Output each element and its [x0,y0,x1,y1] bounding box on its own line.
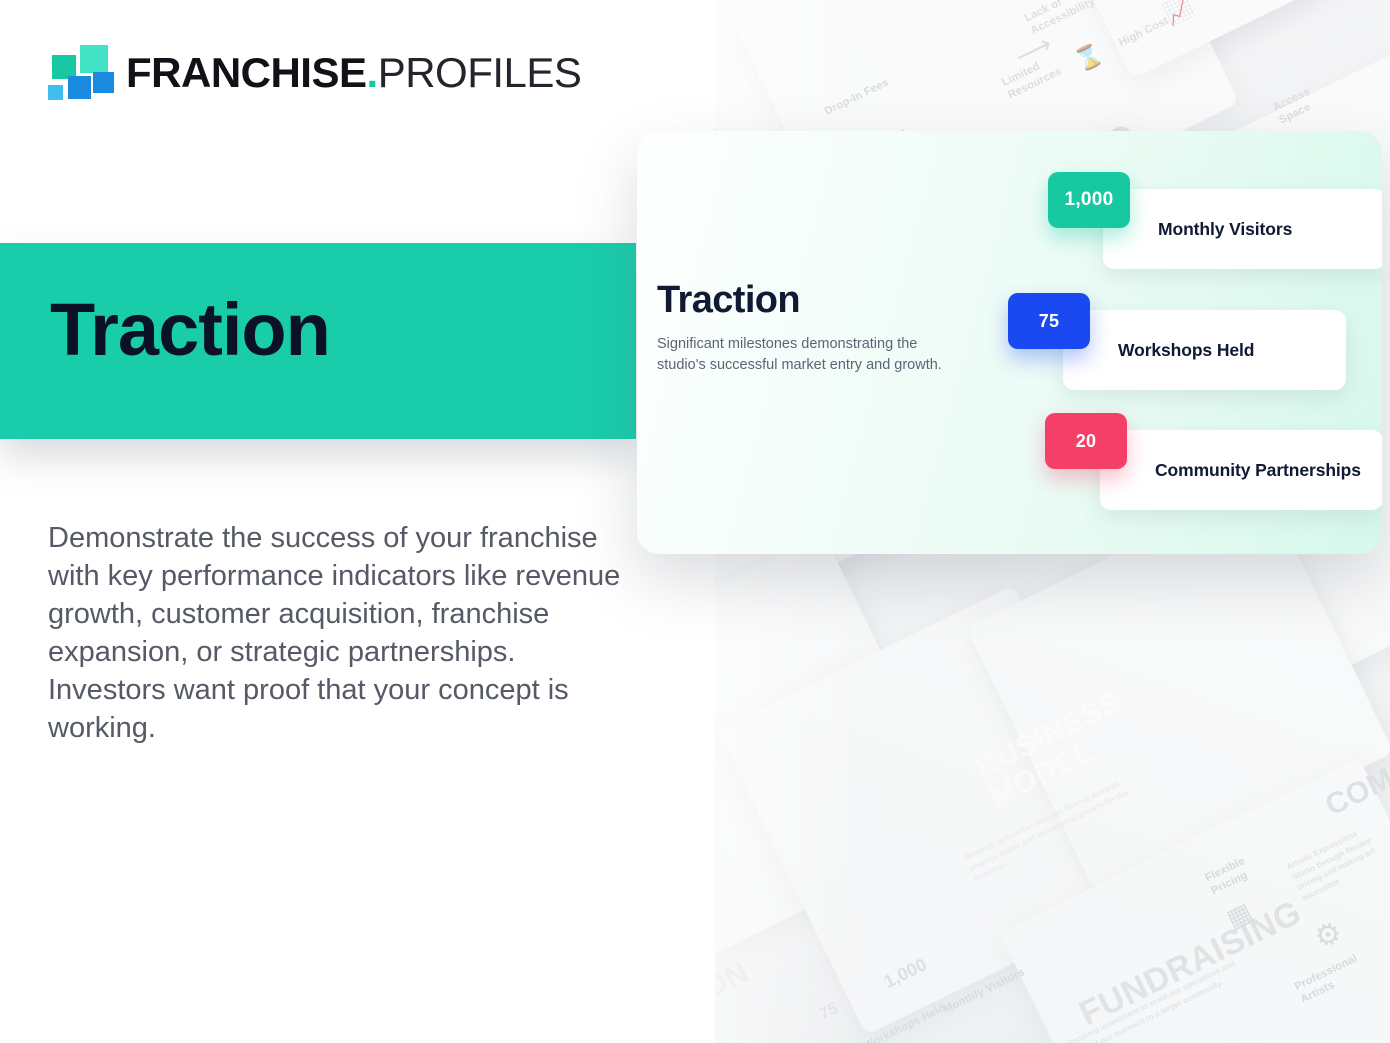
bg-description: Securing investment to scale our operati… [1066,947,1265,1043]
section-description: Demonstrate the success of your franchis… [48,520,628,748]
slide-preview-card[interactable]: Traction Significant milestones demonstr… [637,131,1382,554]
bg-metric-label: Monthly Visitors [941,965,1027,1017]
hourglass-icon: ⌛ [1071,40,1107,75]
bg-metric-value: 1,000 [881,954,931,993]
bg-label: Lack of Accessibility [1022,0,1097,38]
logo-word-light: PROFILES [378,49,582,96]
metric-label-card: Workshops Held [1063,310,1346,390]
metric-value-badge: 1,000 [1048,172,1130,228]
slide-canvas: Drop-In Fees Session Workshops Commissio… [0,0,1390,1043]
background-slide [717,585,1163,1035]
metric-label: Workshops Held [1118,339,1254,361]
metric-row-community-partnerships[interactable]: 20 Community Partnerships [1045,413,1382,510]
logo-wordmark: FRANCHISE.PROFILES [126,52,581,94]
bg-heading: COMP [1321,753,1390,822]
bg-heading: BUSINESS MODEL [971,687,1140,813]
preview-card-title: Traction [657,281,987,319]
arrow-icon: ⟶ [1010,28,1057,72]
bg-label: High Cost [1117,14,1172,50]
logo-dot: . [367,49,378,96]
bg-label: Professional Artists [1292,951,1366,1007]
logo-mark-icon [48,45,108,101]
metric-label-card: Community Partnerships [1100,430,1382,510]
background-slide [999,758,1390,1043]
preview-card-subtitle: Significant milestones demonstrating the… [657,334,957,377]
page-title: Traction [50,293,330,367]
metric-value-badge: 20 [1045,413,1127,469]
background-slide [715,533,968,996]
brand-logo: FRANCHISE.PROFILES [48,45,581,101]
bg-label: Drop-In Fees [822,75,891,118]
metric-label: Community Partnerships [1155,459,1361,481]
logo-word-bold: FRANCHISE [126,49,367,96]
metric-row-workshops-held[interactable]: 75 Workshops Held [1008,293,1346,390]
metric-label-card: Monthly Visitors [1103,189,1382,269]
bg-description: Revenue generation through diverse strea… [962,770,1148,885]
metric-label: Monthly Visitors [1158,218,1292,240]
bg-description: Artistic Expressions Studio through flex… [1285,818,1390,904]
gear-icon: ⚙ [1309,914,1349,957]
chart-icon: 📈 [1161,0,1197,29]
metric-value-badge: 75 [1008,293,1090,349]
section-banner: Traction [0,243,636,439]
bg-metric-value: 75 [817,1000,841,1024]
bg-heading: FUNDRAISING [1074,895,1307,1033]
metric-row-monthly-visitors[interactable]: 1,000 Monthly Visitors [1048,172,1382,269]
bg-label: Access Space [1271,85,1319,128]
bg-label: Limited Resources [1000,52,1065,103]
bg-label: Flexible Pricing [1203,854,1254,898]
bg-heading: ON [715,957,754,1005]
preview-card-text: Traction Significant milestones demonstr… [657,281,987,377]
background-slide [988,0,1390,79]
bar-chart-icon: ▦ [1221,896,1257,935]
background-slide [901,0,1329,127]
bg-metric-label: Workshops Held [861,1001,948,1043]
